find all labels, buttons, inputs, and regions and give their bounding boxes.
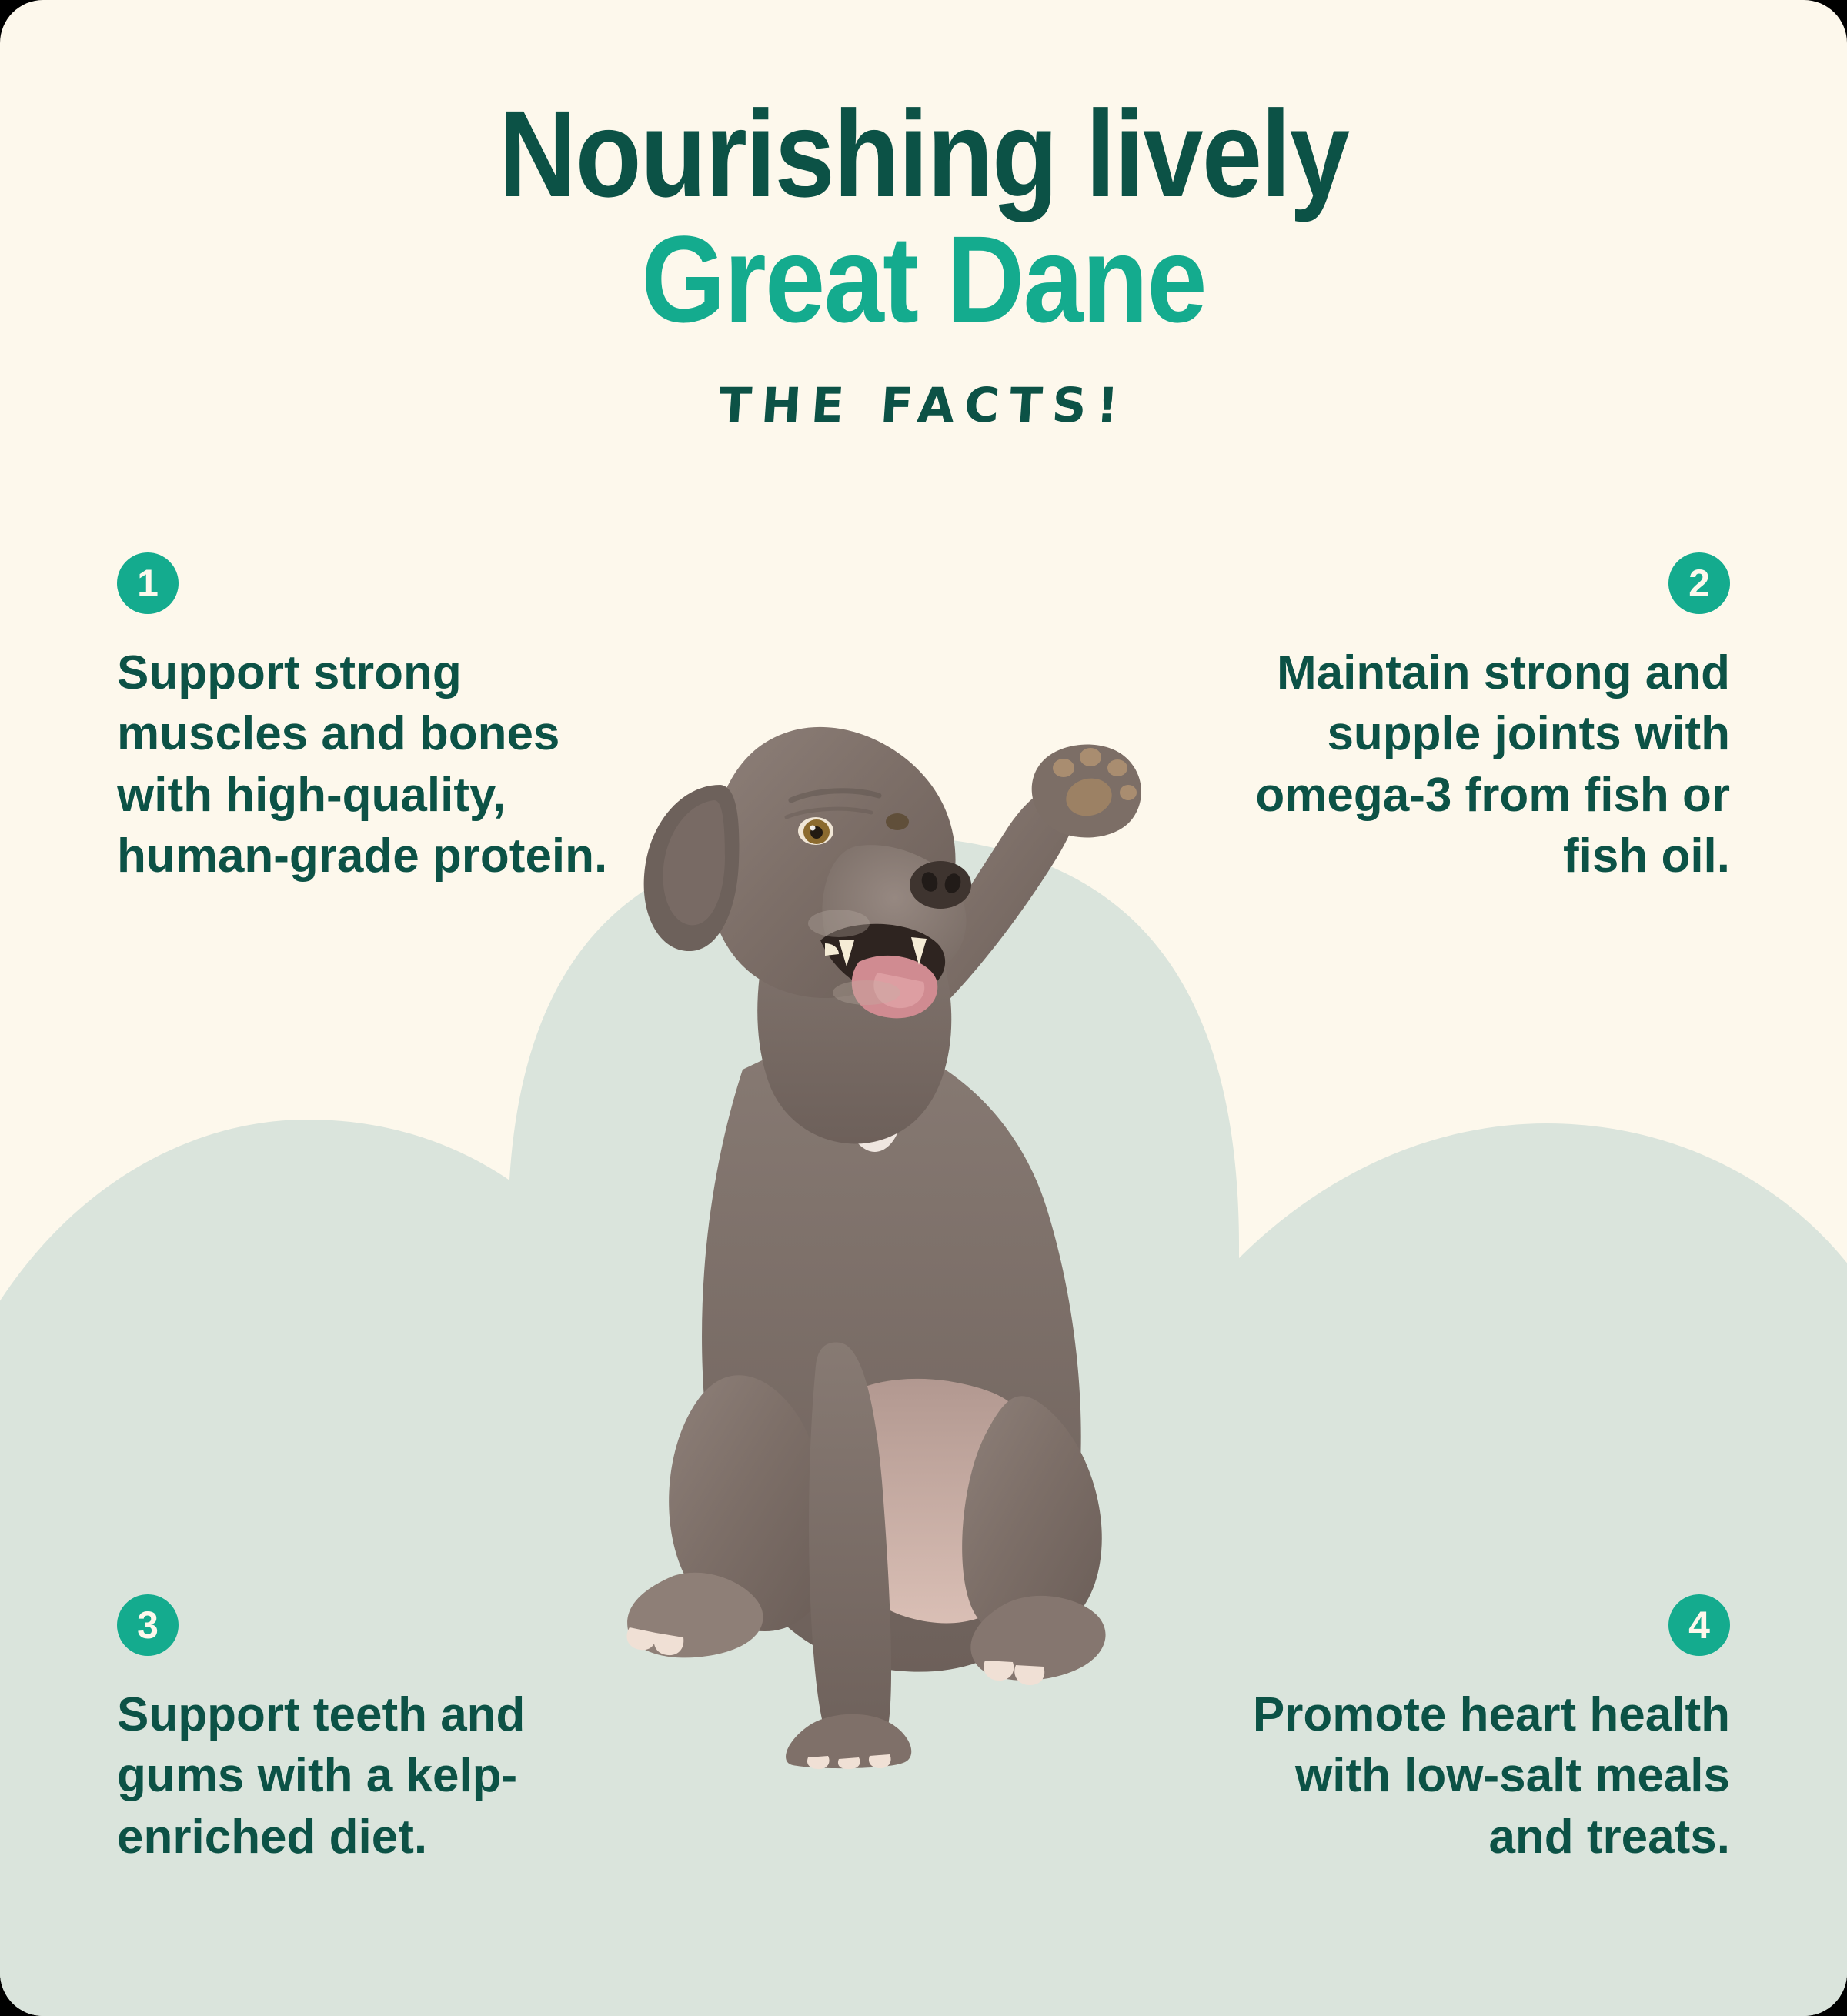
fact-3-number-badge: 3 — [117, 1594, 179, 1656]
fact-block-2: 2 Maintain strong and supple joints with… — [1199, 552, 1730, 886]
fact-2-badge-wrap: 2 — [1199, 552, 1730, 614]
infographic-card: Nourishing lively Great Dane THE FACTS! … — [0, 0, 1847, 2016]
fact-2-text: Maintain strong and supple joints with o… — [1199, 643, 1730, 886]
fact-block-4: 4 Promote heart health with low-salt mea… — [1199, 1594, 1730, 1867]
page-title-line-1: Nourishing lively — [111, 91, 1736, 216]
fact-4-text: Promote heart health with low-salt meals… — [1199, 1684, 1730, 1867]
fact-1-number-badge: 1 — [117, 552, 179, 614]
fact-block-3: 3 Support teeth and gums with a kelp-enr… — [117, 1594, 648, 1867]
fact-3-text: Support teeth and gums with a kelp-enric… — [117, 1684, 648, 1867]
fact-block-1: 1 Support strong muscles and bones with … — [117, 552, 648, 886]
headline-block: Nourishing lively Great Dane THE FACTS! — [0, 91, 1847, 433]
fact-2-number-badge: 2 — [1668, 552, 1730, 614]
fact-1-badge-wrap: 1 — [117, 552, 648, 614]
page-subtitle: THE FACTS! — [0, 377, 1847, 433]
great-dane-photo — [585, 669, 1262, 1770]
fact-3-badge-wrap: 3 — [117, 1594, 648, 1656]
fact-4-badge-wrap: 4 — [1199, 1594, 1730, 1656]
fact-4-number-badge: 4 — [1668, 1594, 1730, 1656]
fact-1-text: Support strong muscles and bones with hi… — [117, 643, 648, 886]
page-title-line-2: Great Dane — [111, 216, 1736, 342]
